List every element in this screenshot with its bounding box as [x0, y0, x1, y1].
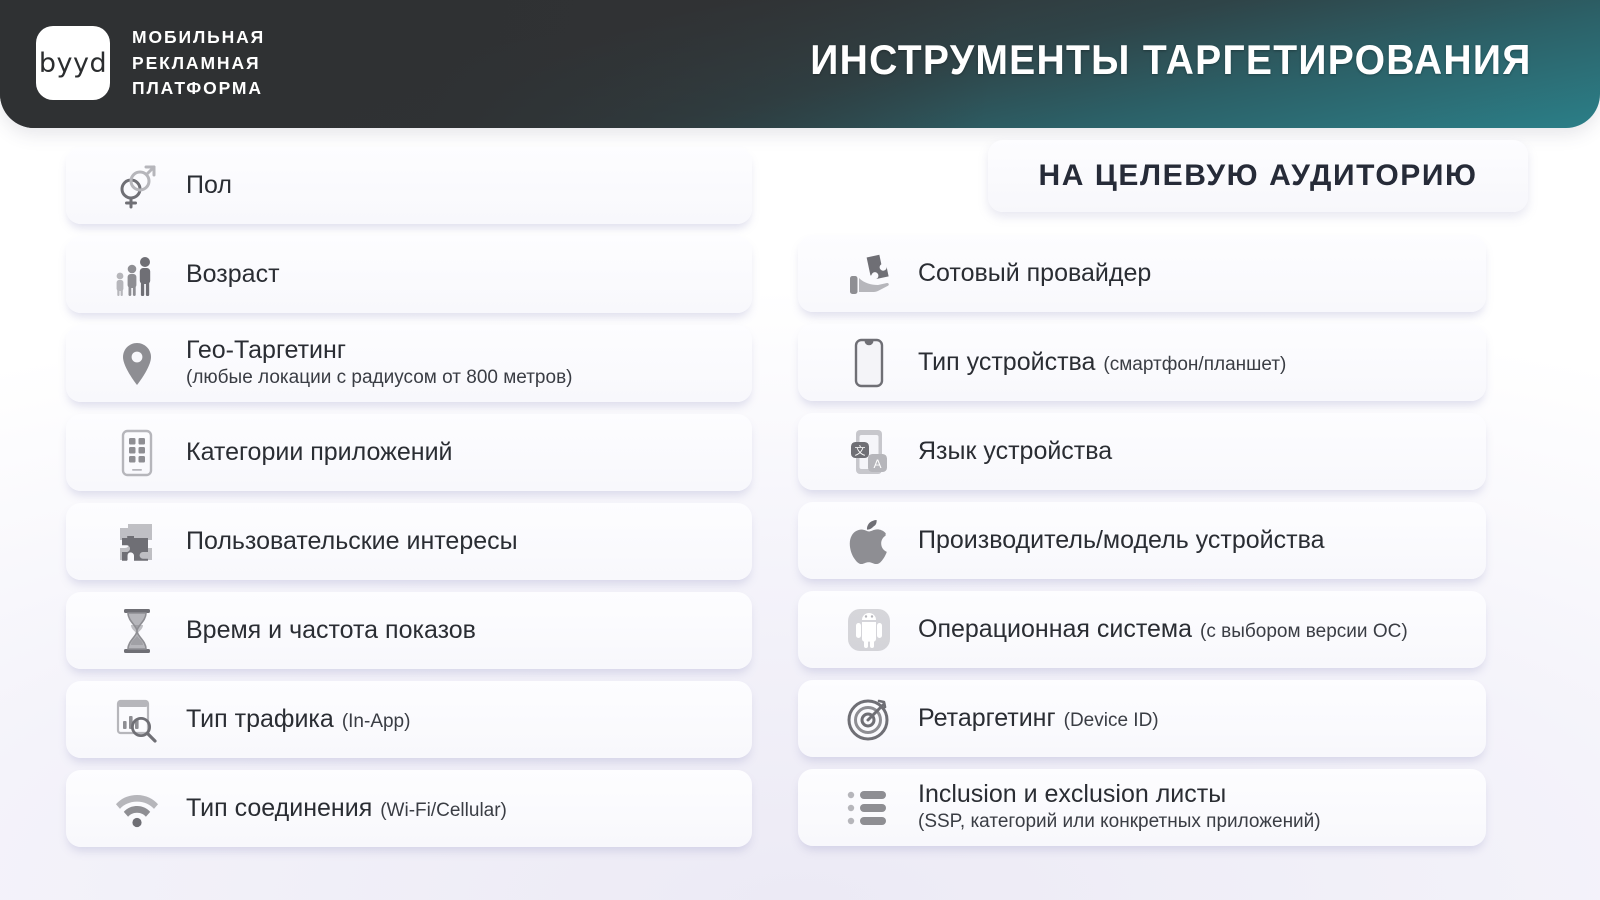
feature-card-title: Тип устройства	[918, 348, 1095, 377]
feature-card-title: Гео-Таргетинг	[186, 337, 346, 365]
feature-card-line1: Операционная система(с выбором версии ОС…	[918, 615, 1408, 644]
feature-card-line1: Тип устройства(смартфон/планшет)	[918, 348, 1286, 377]
feature-card-line1: Время и частота показов	[186, 616, 476, 645]
brand-line-2: РЕКЛАМНАЯ	[132, 51, 265, 77]
feature-card-text: Inclusion и exclusion листы(SSP, категор…	[918, 781, 1321, 833]
feature-card[interactable]: Сотовый провайдер	[798, 235, 1486, 312]
feature-card-title: Тип соединения	[186, 794, 372, 823]
brand-line-1: МОБИЛЬНАЯ	[132, 25, 265, 51]
byyd-logo: byyd	[36, 26, 110, 100]
svg-text:A: A	[873, 457, 881, 471]
feature-card-line1: Inclusion и exclusion листы	[918, 781, 1321, 809]
feature-card[interactable]: Категории приложений	[66, 414, 752, 491]
page-title: ИНСТРУМЕНТЫ ТАРГЕТИРОВАНИЯ	[811, 36, 1532, 84]
gender-symbols-icon	[110, 159, 164, 213]
feature-card-title: Пол	[186, 171, 232, 200]
brand-line-3: ПЛАТФОРМА	[132, 76, 265, 102]
feature-card[interactable]: Пол	[66, 147, 752, 224]
feature-card-line1: Категории приложений	[186, 438, 453, 467]
feature-card[interactable]: Тип соединения(Wi-Fi/Cellular)	[66, 770, 752, 847]
feature-card-line1: Производитель/модель устройства	[918, 526, 1324, 555]
right-feature-column: Сотовый провайдер Тип устройства(смартфо…	[798, 235, 1486, 846]
feature-card-line1: Тип соединения(Wi-Fi/Cellular)	[186, 794, 507, 823]
hand-puzzle-icon	[842, 247, 896, 301]
hourglass-icon	[110, 604, 164, 658]
wifi-signal-icon	[110, 782, 164, 836]
map-pin-icon	[110, 337, 164, 391]
feature-card[interactable]: Пользовательские интересы	[66, 503, 752, 580]
brand-block: byyd МОБИЛЬНАЯ РЕКЛАМНАЯ ПЛАТФОРМА	[36, 25, 265, 102]
feature-card-line1: Сотовый провайдер	[918, 259, 1151, 288]
feature-card-suffix: (с выбором версии ОС)	[1200, 621, 1408, 643]
feature-card-title: Ретаргетинг	[918, 704, 1056, 733]
left-feature-column: Пол Возраст Гео-Таргетинг(любые локации …	[66, 147, 752, 847]
feature-card-title: Время и частота показов	[186, 616, 476, 645]
feature-card-suffix: (Wi-Fi/Cellular)	[380, 800, 507, 822]
feature-card-text: Пользовательские интересы	[186, 527, 518, 556]
android-robot-icon	[842, 603, 896, 657]
header-bar: byyd МОБИЛЬНАЯ РЕКЛАМНАЯ ПЛАТФОРМА ИНСТР…	[0, 0, 1600, 128]
logo-wordmark: byyd	[39, 50, 107, 77]
feature-card-line1: Возраст	[186, 260, 280, 289]
feature-card-title: Возраст	[186, 260, 280, 289]
feature-card-subtitle: (SSP, категорий или конкретных приложени…	[918, 811, 1321, 834]
feature-card[interactable]: Ретаргетинг(Device ID)	[798, 680, 1486, 757]
feature-card[interactable]: 文 A Язык устройства	[798, 413, 1486, 490]
feature-card-line1: Ретаргетинг(Device ID)	[918, 704, 1159, 733]
feature-card-text: Тип устройства(смартфон/планшет)	[918, 348, 1286, 377]
feature-card-title: Производитель/модель устройства	[918, 526, 1324, 555]
feature-card-suffix: (In-App)	[342, 711, 411, 733]
chart-magnifier-icon	[110, 693, 164, 747]
feature-card-line1: Тип трафика(In-App)	[186, 705, 410, 734]
feature-card-text: Тип соединения(Wi-Fi/Cellular)	[186, 794, 507, 823]
feature-card-title: Категории приложений	[186, 438, 453, 467]
feature-card-text: Язык устройства	[918, 437, 1112, 466]
feature-card-text: Производитель/модель устройства	[918, 526, 1324, 555]
feature-card-title: Язык устройства	[918, 437, 1112, 466]
feature-card-text: Пол	[186, 171, 232, 200]
feature-card-suffix: (Device ID)	[1064, 710, 1159, 732]
feature-card-subtitle: (любые локации с радиусом от 800 метров)	[186, 367, 573, 390]
slide-root: byyd МОБИЛЬНАЯ РЕКЛАМНАЯ ПЛАТФОРМА ИНСТР…	[0, 0, 1600, 900]
translate-icon: 文 A	[842, 425, 896, 479]
feature-card-text: Гео-Таргетинг(любые локации с радиусом о…	[186, 337, 573, 389]
feature-card[interactable]: Производитель/модель устройства	[798, 502, 1486, 579]
feature-card[interactable]: Возраст	[66, 236, 752, 313]
feature-card[interactable]: Время и частота показов	[66, 592, 752, 669]
feature-card[interactable]: Тип трафика(In-App)	[66, 681, 752, 758]
app-grid-phone-icon	[110, 426, 164, 480]
feature-card-text: Время и частота показов	[186, 616, 476, 645]
list-bullets-icon	[842, 781, 896, 835]
svg-text:文: 文	[855, 443, 866, 457]
brand-tagline: МОБИЛЬНАЯ РЕКЛАМНАЯ ПЛАТФОРМА	[132, 25, 265, 102]
subtitle-text: НА ЦЕЛЕВУЮ АУДИТОРИЮ	[1038, 159, 1477, 193]
puzzle-pieces-icon	[110, 515, 164, 569]
feature-card-title: Операционная система	[918, 615, 1192, 644]
feature-card-line1: Пол	[186, 171, 232, 200]
feature-card[interactable]: Операционная система(с выбором версии ОС…	[798, 591, 1486, 668]
feature-card-title: Тип трафика	[186, 705, 334, 734]
feature-card-text: Ретаргетинг(Device ID)	[918, 704, 1159, 733]
feature-card[interactable]: Тип устройства(смартфон/планшет)	[798, 324, 1486, 401]
feature-card-text: Категории приложений	[186, 438, 453, 467]
feature-card[interactable]: Гео-Таргетинг(любые локации с радиусом о…	[66, 325, 752, 402]
apple-icon	[842, 514, 896, 568]
feature-card-text: Сотовый провайдер	[918, 259, 1151, 288]
feature-card-suffix: (смартфон/планшет)	[1103, 354, 1286, 376]
feature-card-line1: Пользовательские интересы	[186, 527, 518, 556]
subtitle-card: НА ЦЕЛЕВУЮ АУДИТОРИЮ	[988, 140, 1528, 212]
smartphone-icon	[842, 336, 896, 390]
feature-card-title: Inclusion и exclusion листы	[918, 781, 1226, 809]
feature-card-text: Возраст	[186, 260, 280, 289]
feature-card-line1: Язык устройства	[918, 437, 1112, 466]
feature-card-text: Операционная система(с выбором версии ОС…	[918, 615, 1408, 644]
feature-card[interactable]: Inclusion и exclusion листы(SSP, категор…	[798, 769, 1486, 846]
feature-card-text: Тип трафика(In-App)	[186, 705, 410, 734]
feature-card-title: Пользовательские интересы	[186, 527, 518, 556]
target-dart-icon	[842, 692, 896, 746]
feature-card-title: Сотовый провайдер	[918, 259, 1151, 288]
family-people-icon	[110, 248, 164, 302]
feature-card-line1: Гео-Таргетинг	[186, 337, 573, 365]
